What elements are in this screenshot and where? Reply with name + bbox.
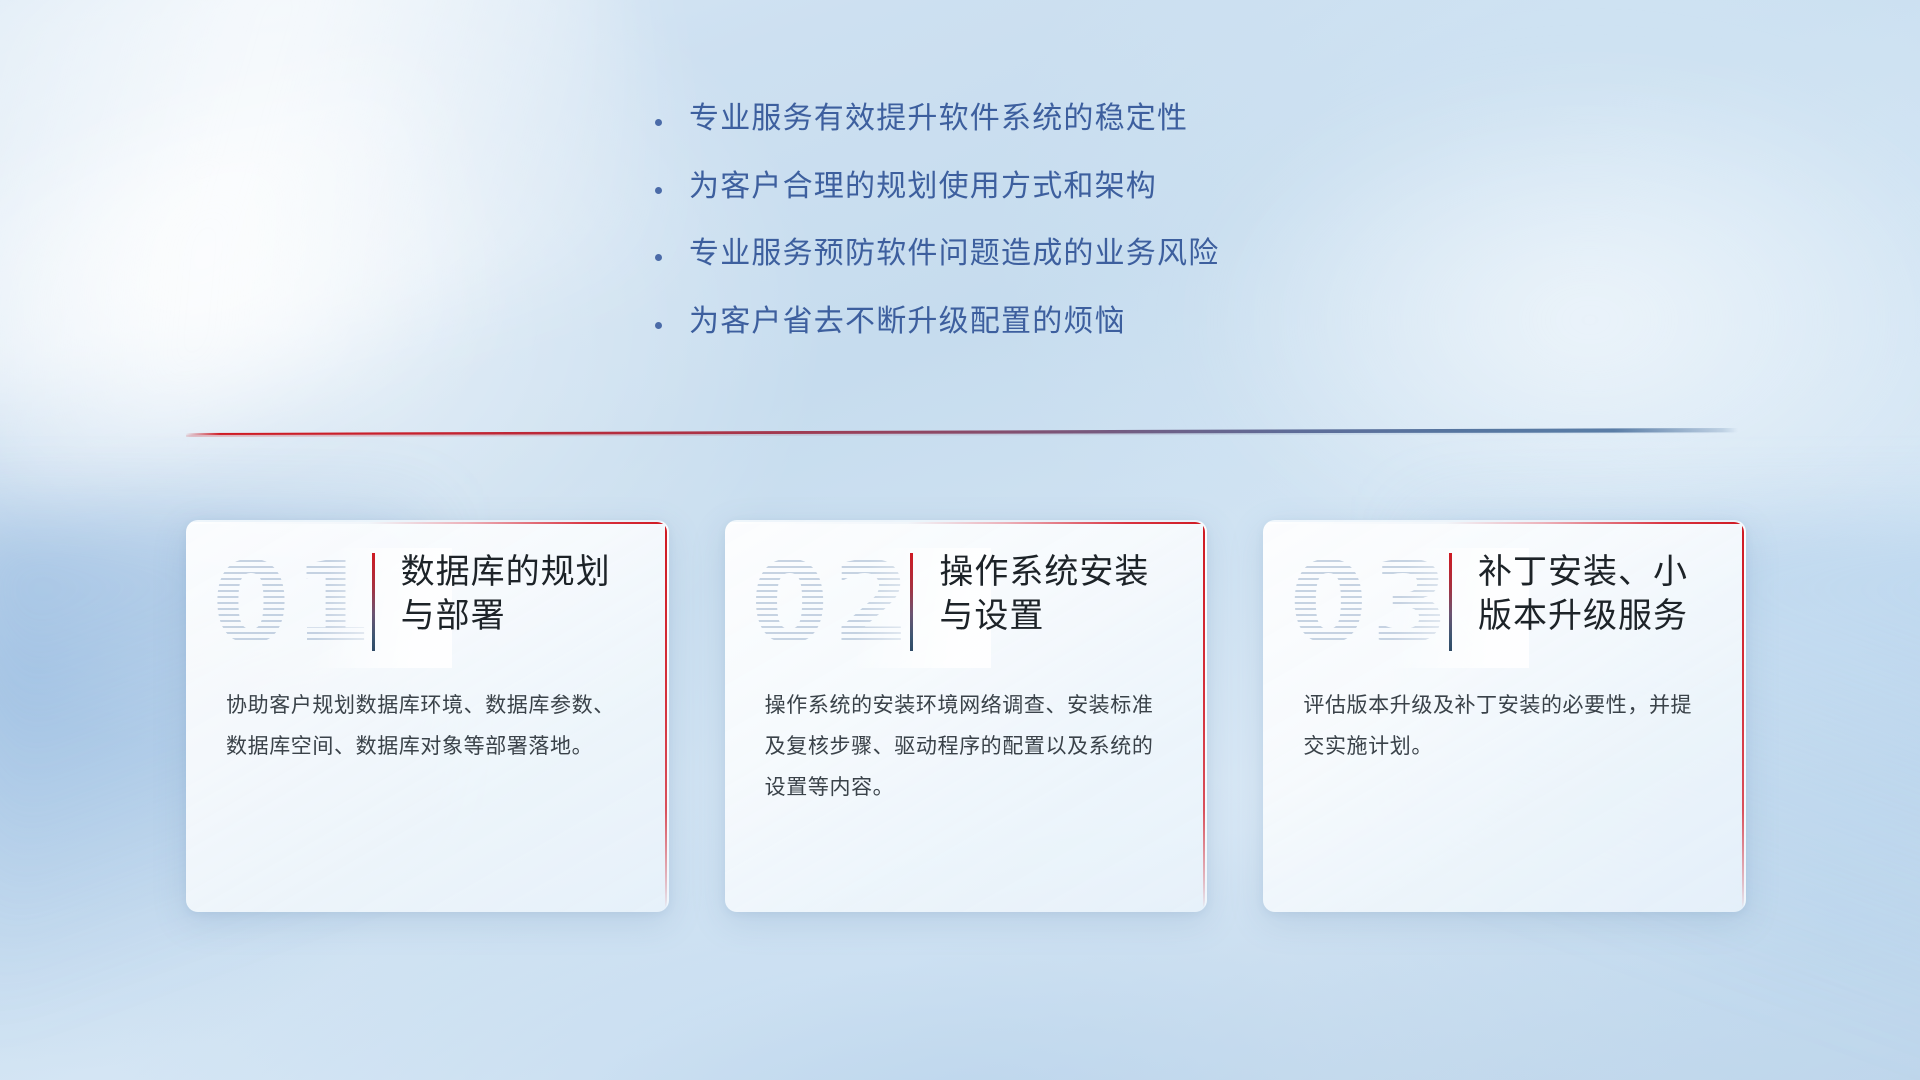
feature-card-02[interactable]: 02 操作系统安装与设置 操作系统的安装环境网络调查、安装标准及复核步骤、驱动程… [725,520,1208,912]
title-accent-rule [1449,553,1452,651]
card-header: 02 操作系统安装与设置 [725,522,1206,650]
bullet-item-text: 为客户合理的规划使用方式和架构 [689,168,1157,206]
bullet-item-text: 为客户省去不断升级配置的烦恼 [689,303,1126,341]
list-item: 专业服务有效提升软件系统的稳定性 [655,100,1555,138]
card-header: 01 数据库的规划与部署 [186,522,667,650]
bullet-item-text: 专业服务预防软件问题造成的业务风险 [689,235,1219,273]
watermark-number-03: 03 [1289,548,1453,660]
card-header: 03 补丁安装、小版本升级服务 [1263,522,1744,650]
bullet-dot-icon [655,187,689,194]
watermark-number-02: 02 [751,548,915,660]
feature-card-03[interactable]: 03 补丁安装、小版本升级服务 评估版本升级及补丁安装的必要性，并提交实施计划。 [1263,520,1746,912]
title-accent-rule [910,553,913,651]
card-title: 补丁安装、小版本升级服务 [1478,551,1710,638]
list-item: 专业服务预防软件问题造成的业务风险 [655,235,1555,273]
card-body-text: 评估版本升级及补丁安装的必要性，并提交实施计划。 [1263,650,1744,812]
card-title-group: 补丁安装、小版本升级服务 [1449,551,1710,651]
background-light-streak-left [0,70,492,511]
card-body-text: 协助客户规划数据库环境、数据库参数、数据库空间、数据库对象等部署落地。 [186,650,667,812]
bullet-dot-icon [655,322,689,329]
slide-canvas: 专业服务有效提升软件系统的稳定性 为客户合理的规划使用方式和架构 专业服务预防软… [0,0,1920,1080]
section-divider [186,428,1738,438]
card-title: 数据库的规划与部署 [401,551,633,638]
bullet-dot-icon [655,119,689,126]
background-light-streak-top-left [0,0,675,414]
card-title-group: 数据库的规划与部署 [372,551,633,651]
bullet-item-text: 专业服务有效提升软件系统的稳定性 [689,100,1188,138]
list-item: 为客户合理的规划使用方式和架构 [655,168,1555,206]
bullet-list: 专业服务有效提升软件系统的稳定性 为客户合理的规划使用方式和架构 专业服务预防软… [655,100,1555,340]
title-accent-rule [372,553,375,651]
feature-card-01[interactable]: 01 数据库的规划与部署 协助客户规划数据库环境、数据库参数、数据库空间、数据库… [186,520,669,912]
card-title: 操作系统安装与设置 [939,551,1171,638]
feature-card-row: 01 数据库的规划与部署 协助客户规划数据库环境、数据库参数、数据库空间、数据库… [186,520,1746,912]
card-title-group: 操作系统安装与设置 [910,551,1171,651]
list-item: 为客户省去不断升级配置的烦恼 [655,303,1555,341]
bullet-dot-icon [655,254,689,261]
card-body-text: 操作系统的安装环境网络调查、安装标准及复核步骤、驱动程序的配置以及系统的设置等内… [725,650,1206,853]
watermark-number-01: 01 [212,548,376,660]
